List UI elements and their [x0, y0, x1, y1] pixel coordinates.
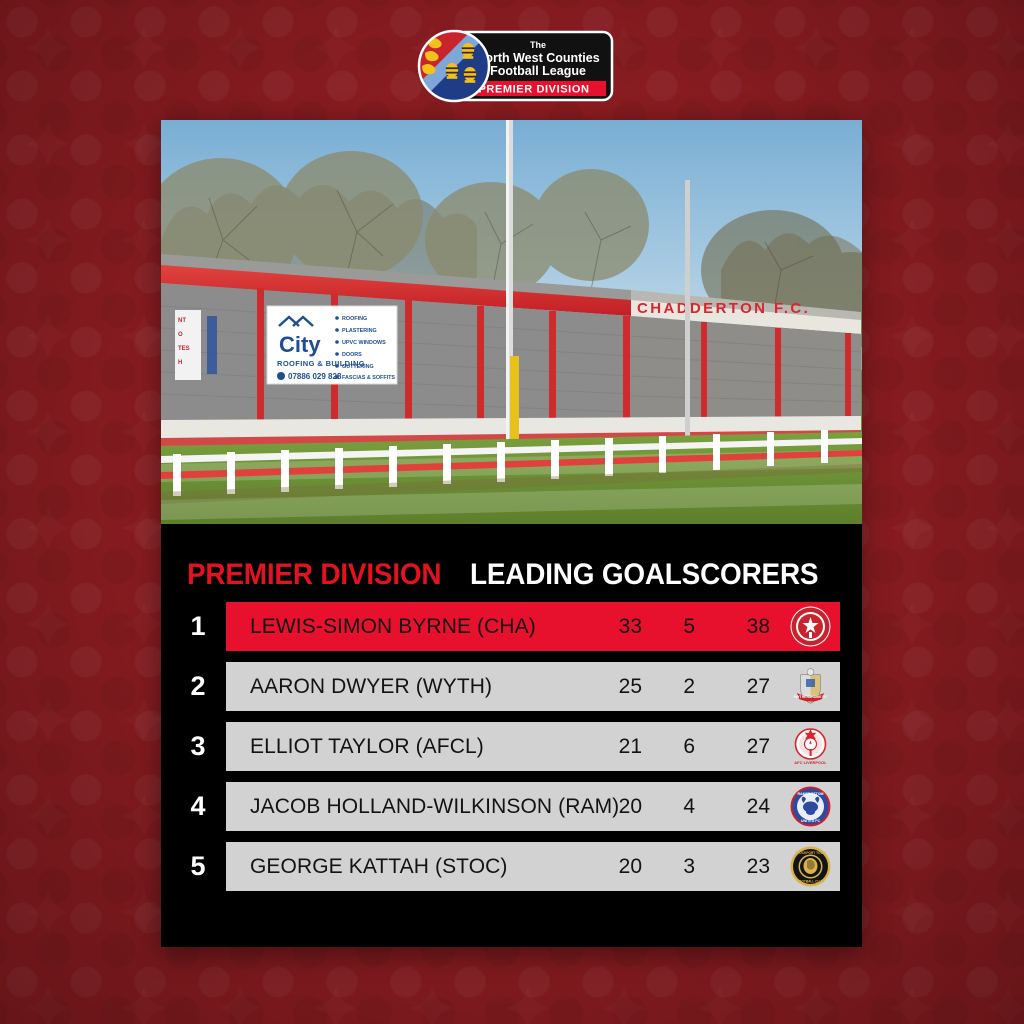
svg-text:UPVC WINDOWS: UPVC WINDOWS — [342, 340, 386, 346]
page-title: PREMIER DIVISION LEADING GOALSCORERS — [187, 552, 847, 598]
player-assists: 4 — [667, 782, 695, 831]
row-bar[interactable]: AARON DWYER (WYTH) 25 2 27 WYTHENSHAWE F… — [226, 662, 840, 711]
svg-text:STOCKPORT TOWN: STOCKPORT TOWN — [795, 851, 826, 855]
stand-club-name: CHADDERTON F.C. — [637, 300, 810, 317]
player-assists: 6 — [667, 722, 695, 771]
table-row[interactable]: 5 GEORGE KATTAH (STOC) 20 3 23 STOCKPORT… — [161, 842, 862, 891]
player-goals: 20 — [598, 842, 642, 891]
player-assists: 5 — [667, 602, 695, 651]
svg-text:TES: TES — [178, 346, 190, 352]
badge-line2: Football League — [490, 64, 586, 78]
stadium-photo: CHADDERTON F.C. — [161, 120, 862, 524]
title-highlight: PREMIER DIVISION — [187, 558, 441, 592]
svg-text:FOOTBALL CLUB: FOOTBALL CLUB — [797, 880, 825, 884]
svg-text:FASCIAS & SOFFITS: FASCIAS & SOFFITS — [342, 375, 395, 381]
player-total: 23 — [726, 842, 770, 891]
title-rest: LEADING GOALSCORERS — [470, 558, 818, 592]
player-total: 27 — [726, 662, 770, 711]
player-total: 24 — [726, 782, 770, 831]
row-rank: 2 — [175, 662, 221, 711]
svg-text:GUTTERING: GUTTERING — [342, 364, 374, 370]
player-goals: 21 — [598, 722, 642, 771]
player-assists: 3 — [667, 842, 695, 891]
table-row[interactable]: 4 JACOB HOLLAND-WILKINSON (RAM) 20 4 24 — [161, 782, 862, 831]
ramsbottom-crest: RAMSBOTTOM UNITED FC — [789, 785, 832, 828]
svg-text:AFC LIVERPOOL: AFC LIVERPOOL — [794, 760, 827, 765]
player-goals: 20 — [598, 782, 642, 831]
chadderton-crest — [789, 605, 832, 648]
svg-text:UNITED FC: UNITED FC — [801, 819, 821, 823]
afc-liverpool-crest: AFC LIVERPOOL — [789, 725, 832, 768]
advert-brand: City — [279, 332, 321, 357]
content-card: CHADDERTON F.C. — [161, 120, 862, 947]
player-goals: 33 — [598, 602, 642, 651]
row-rank: 3 — [175, 722, 221, 771]
table-row[interactable]: 1 LEWIS-SIMON BYRNE (CHA) 33 5 38 — [161, 602, 862, 651]
svg-text:DOORS: DOORS — [342, 352, 362, 358]
row-rank: 4 — [175, 782, 221, 831]
table-row[interactable]: 2 AARON DWYER (WYTH) 25 2 27 WYTHENSHAWE… — [161, 662, 862, 711]
row-bar[interactable]: GEORGE KATTAH (STOC) 20 3 23 STOCKPORT T… — [226, 842, 840, 891]
row-bar[interactable]: LEWIS-SIMON BYRNE (CHA) 33 5 38 — [226, 602, 840, 651]
row-rank: 1 — [175, 602, 221, 651]
advert-phone: 07886 029 828 — [288, 372, 342, 381]
badge-the-label: The — [530, 40, 546, 50]
stockport-town-crest: STOCKPORT TOWN FOOTBALL CLUB — [789, 845, 832, 888]
player-name: GEORGE KATTAH (STOC) — [250, 842, 508, 891]
badge-line1: North West Counties — [476, 51, 599, 65]
goalscorers-table: 1 LEWIS-SIMON BYRNE (CHA) 33 5 38 — [161, 602, 862, 902]
wythenshawe-crest: WYTHENSHAWE FC — [789, 665, 832, 708]
svg-text:RAMSBOTTOM: RAMSBOTTOM — [797, 792, 823, 796]
league-badge: The North West Counties Football League … — [412, 24, 618, 108]
svg-text:ROOFING: ROOFING — [342, 316, 367, 322]
player-name: AARON DWYER (WYTH) — [250, 662, 492, 711]
table-row[interactable]: 3 ELLIOT TAYLOR (AFCL) 21 6 27 AFC LIVER… — [161, 722, 862, 771]
svg-text:H: H — [178, 360, 182, 366]
svg-text:WYTHENSHAWE FC: WYTHENSHAWE FC — [794, 695, 827, 699]
svg-text:NT: NT — [178, 318, 186, 324]
player-total: 38 — [726, 602, 770, 651]
svg-text:PLASTERING: PLASTERING — [342, 328, 377, 334]
player-total: 27 — [726, 722, 770, 771]
player-goals: 25 — [598, 662, 642, 711]
badge-division-label: PREMIER DIVISION — [478, 84, 589, 96]
player-name: JACOB HOLLAND-WILKINSON (RAM) — [250, 782, 619, 831]
svg-text:O: O — [178, 332, 183, 338]
row-rank: 5 — [175, 842, 221, 891]
row-bar[interactable]: JACOB HOLLAND-WILKINSON (RAM) 20 4 24 — [226, 782, 840, 831]
row-bar[interactable]: ELLIOT TAYLOR (AFCL) 21 6 27 AFC LIVERPO… — [226, 722, 840, 771]
advert-board: City ROOFING & BUILDING 07886 029 828 RO… — [267, 306, 397, 384]
player-assists: 2 — [667, 662, 695, 711]
player-name: LEWIS-SIMON BYRNE (CHA) — [250, 602, 536, 651]
player-name: ELLIOT TAYLOR (AFCL) — [250, 722, 484, 771]
